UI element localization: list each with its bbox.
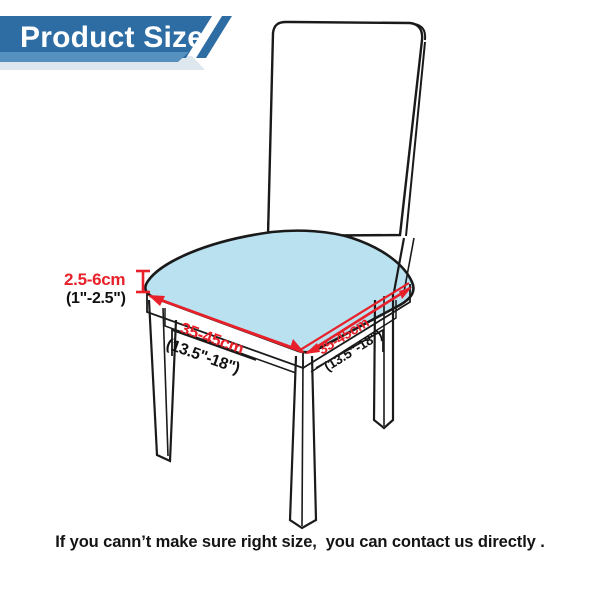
chair-diagram: Product Size (0, 0, 600, 600)
thickness-label-metric: 2.5-6cm (64, 270, 125, 289)
chair-back (268, 22, 425, 236)
leg-front-left (149, 300, 176, 461)
size-help-caption: If you cann’t make sure right size, you … (0, 533, 600, 552)
leg-front-left-inner-line (163, 308, 168, 456)
product-size-infographic: Product Size (0, 0, 600, 600)
chair-back-outer-outline (268, 22, 422, 236)
banner-title: Product Size (20, 21, 204, 54)
thickness-label: 2.5-6cm (1"-2.5") (64, 270, 126, 307)
chair-back-right-depth-line (414, 24, 425, 40)
product-size-banner: Product Size (0, 16, 232, 70)
chair-back-right-inner-edge (406, 42, 425, 236)
thickness-label-imperial: (1"-2.5") (66, 290, 126, 307)
leg-front-center-inner-line (302, 360, 303, 526)
